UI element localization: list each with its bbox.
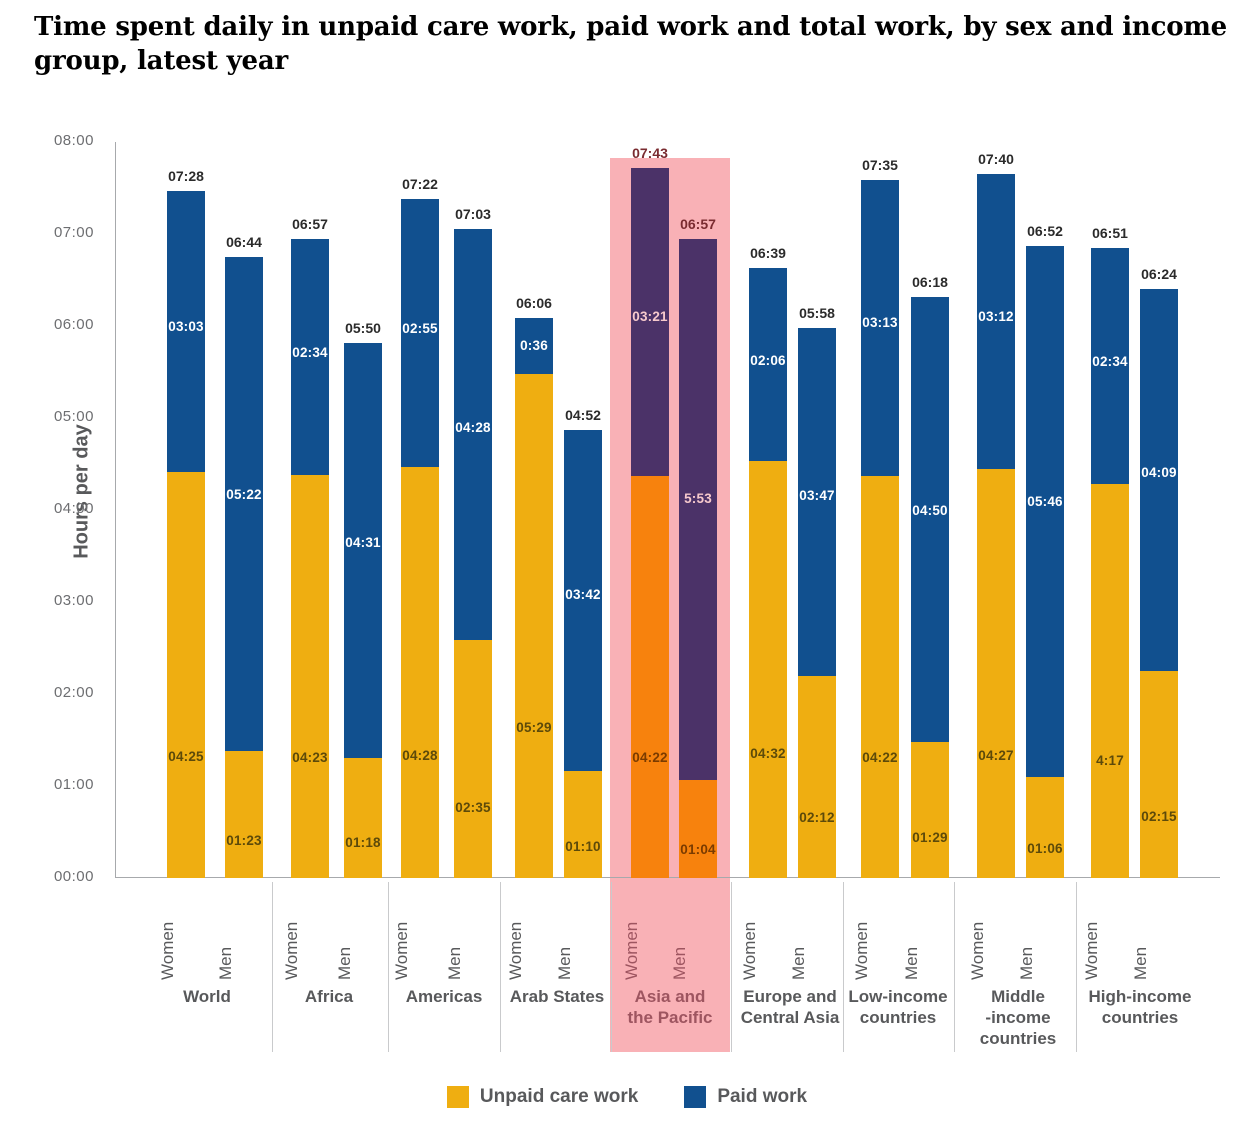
segment-paid-work [344,343,382,759]
bar-americas-men[interactable]: 02:3504:2807:03 [454,229,492,878]
segment-unpaid-care-work [977,469,1015,878]
y-tick-label: 04:00 [14,500,94,517]
x-axis-sex-label: Women [282,880,302,980]
total-label: 06:18 [900,274,960,290]
value-label-paid: 03:13 [853,315,907,330]
x-axis-sex-label: Men [1017,880,1037,980]
bar-arab-states-men[interactable]: 01:1003:4204:52 [564,430,602,878]
y-tick-label: 03:00 [14,592,94,609]
value-label-unpaid: 04:23 [283,750,337,765]
bar-low-income-countries-women[interactable]: 04:2203:1307:35 [861,180,899,878]
total-label: 07:40 [966,151,1026,167]
total-label: 07:03 [443,206,503,222]
segment-unpaid-care-work [631,476,669,878]
segment-unpaid-care-work [344,758,382,878]
total-label: 07:43 [620,145,680,161]
segment-unpaid-care-work [911,742,949,878]
bar-high-income-countries-men[interactable]: 02:1504:0906:24 [1140,289,1178,878]
segment-unpaid-care-work [1091,484,1129,878]
segment-unpaid-care-work [454,640,492,878]
x-axis-sex-label: Men [789,880,809,980]
group-separator [500,882,501,1052]
value-label-unpaid: 01:10 [556,839,610,854]
value-label-paid: 04:31 [336,535,390,550]
total-label: 06:52 [1015,223,1075,239]
x-axis-sex-label: Women [392,880,412,980]
segment-paid-work [679,239,717,780]
x-axis-sex-label: Men [335,880,355,980]
bar-world-men[interactable]: 01:2305:2206:44 [225,257,263,878]
bar-middle-income-countries-women[interactable]: 04:2703:1207:40 [977,174,1015,878]
segment-unpaid-care-work [679,780,717,878]
y-tick-label: 07:00 [14,224,94,241]
total-label: 06:57 [280,216,340,232]
bar-americas-women[interactable]: 04:2802:5507:22 [401,199,439,878]
segment-unpaid-care-work [167,472,205,878]
total-label: 07:28 [156,168,216,184]
x-axis-sex-label: Women [740,880,760,980]
total-label: 06:39 [738,245,798,261]
value-label-unpaid: 01:04 [671,842,725,857]
value-label-unpaid: 01:23 [217,833,271,848]
value-label-paid: 0:36 [507,338,561,353]
value-label-paid: 02:55 [393,321,447,336]
value-label-unpaid: 02:15 [1132,809,1186,824]
bar-low-income-countries-men[interactable]: 01:2904:5006:18 [911,297,949,878]
total-label: 04:52 [553,407,613,423]
legend-label: Paid work [717,1086,807,1108]
value-label-unpaid: 02:12 [790,810,844,825]
value-label-unpaid: 04:28 [393,748,447,763]
value-label-paid: 5:53 [671,491,725,506]
x-axis-sex-label: Women [852,880,872,980]
bar-asia-and-the-pacific-men[interactable]: 01:045:5306:57 [679,239,717,878]
legend-swatch-icon [684,1086,706,1108]
segment-unpaid-care-work [1140,671,1178,878]
group-separator [611,882,612,1052]
group-separator [843,882,844,1052]
value-label-paid: 03:03 [159,319,213,334]
total-label: 06:06 [504,295,564,311]
segment-unpaid-care-work [749,461,787,878]
bar-middle-income-countries-men[interactable]: 01:0605:4606:52 [1026,246,1064,878]
value-label-unpaid: 01:29 [903,830,957,845]
total-label: 06:57 [668,216,728,232]
value-label-paid: 04:09 [1132,465,1186,480]
bar-asia-and-the-pacific-women[interactable]: 04:2203:2107:43 [631,168,669,878]
legend-label: Unpaid care work [480,1086,638,1108]
legend-swatch-icon [447,1086,469,1108]
value-label-paid: 03:21 [623,309,677,324]
y-tick-label: 02:00 [14,684,94,701]
bar-europe-and-central-asia-men[interactable]: 02:1203:4705:58 [798,328,836,878]
value-label-unpaid: 04:22 [623,750,677,765]
value-label-paid: 02:34 [1083,354,1137,369]
value-label-unpaid: 04:22 [853,750,907,765]
y-tick-label: 08:00 [14,132,94,149]
value-label-unpaid: 04:32 [741,746,795,761]
bar-world-women[interactable]: 04:2503:0307:28 [167,191,205,878]
x-axis-sex-label: Men [216,880,236,980]
segment-unpaid-care-work [1026,777,1064,878]
x-axis-sex-label: Women [622,880,642,980]
bar-europe-and-central-asia-women[interactable]: 04:3202:0606:39 [749,268,787,878]
group-separator [272,882,273,1052]
segment-paid-work [225,257,263,751]
total-label: 05:50 [333,320,393,336]
x-axis-sex-label: Men [1131,880,1151,980]
y-tick-label: 06:00 [14,316,94,333]
value-label-paid: 02:34 [283,345,337,360]
x-axis-sex-label: Women [968,880,988,980]
y-tick-label: 00:00 [14,868,94,885]
value-label-paid: 03:12 [969,309,1023,324]
bar-high-income-countries-women[interactable]: 4:1702:3406:51 [1091,248,1129,878]
segment-unpaid-care-work [798,676,836,878]
x-axis-sex-label: Men [555,880,575,980]
group-separator [388,882,389,1052]
segment-unpaid-care-work [564,771,602,878]
plot-area: 04:2503:0307:2801:2305:2206:4404:2302:34… [115,142,1220,878]
segment-unpaid-care-work [225,751,263,878]
value-label-unpaid: 05:29 [507,720,561,735]
value-label-paid: 05:22 [217,487,271,502]
legend-item[interactable]: Paid work [684,1086,807,1108]
total-label: 07:22 [390,176,450,192]
value-label-paid: 04:50 [903,503,957,518]
segment-paid-work [911,297,949,742]
total-label: 06:51 [1080,225,1140,241]
group-separator [954,882,955,1052]
chart-legend: Unpaid care workPaid work [0,1086,1254,1108]
group-separator [1076,882,1077,1052]
total-label: 06:24 [1129,266,1189,282]
y-tick-label: 01:00 [14,776,94,793]
page-title: Time spent daily in unpaid care work, pa… [34,10,1234,78]
y-tick-label: 05:00 [14,408,94,425]
bar-arab-states-women[interactable]: 05:290:3606:06 [515,318,553,878]
value-label-paid: 05:46 [1018,494,1072,509]
total-label: 07:35 [850,157,910,173]
value-label-unpaid: 01:18 [336,835,390,850]
segment-unpaid-care-work [401,467,439,878]
x-axis-group-label: High-incomecountries [1060,986,1220,1028]
bar-africa-men[interactable]: 01:1804:3105:50 [344,343,382,878]
x-axis-sex-label: Women [158,880,178,980]
x-axis-sex-label: Women [1082,880,1102,980]
value-label-unpaid: 04:25 [159,749,213,764]
x-axis-sex-label: Men [670,880,690,980]
value-label-unpaid: 01:06 [1018,841,1072,856]
segment-paid-work [454,229,492,640]
value-label-unpaid: 04:27 [969,748,1023,763]
segment-paid-work [1026,246,1064,777]
value-label-paid: 04:28 [446,420,500,435]
value-label-unpaid: 02:35 [446,800,500,815]
segment-unpaid-care-work [291,475,329,878]
segment-unpaid-care-work [515,374,553,878]
group-separator [731,882,732,1052]
legend-item[interactable]: Unpaid care work [447,1086,638,1108]
total-label: 06:44 [214,234,274,250]
value-label-paid: 02:06 [741,353,795,368]
bar-africa-women[interactable]: 04:2302:3406:57 [291,239,329,878]
segment-unpaid-care-work [861,476,899,878]
value-label-unpaid: 4:17 [1083,753,1137,768]
x-axis-sex-label: Women [506,880,526,980]
x-axis-sex-label: Men [902,880,922,980]
value-label-paid: 03:42 [556,587,610,602]
value-label-paid: 03:47 [790,488,844,503]
x-axis-sex-label: Men [445,880,465,980]
total-label: 05:58 [787,305,847,321]
